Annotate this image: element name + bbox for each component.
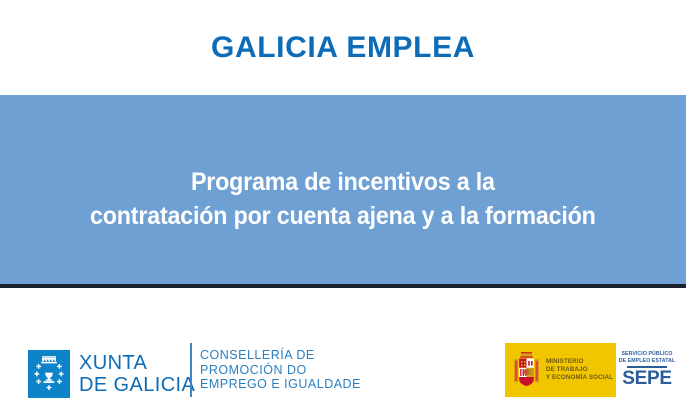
program-title-line-1: Programa de incentivos a la xyxy=(90,165,596,199)
conselleria-line-1: CONSELLERÍA DE xyxy=(200,348,361,363)
program-title-line-2: contratación por cuenta ajena y a la for… xyxy=(90,199,596,233)
ministerio-line-2: DE TRABAJO xyxy=(546,366,613,374)
conselleria-line-2: PROMOCIÓN DO xyxy=(200,363,361,378)
program-banner-text: Programa de incentivos a la contratación… xyxy=(71,165,615,233)
sepe-subtitle-line-1: SERVICIO PÚBLICO xyxy=(619,351,675,357)
logo-divider xyxy=(190,343,192,397)
xunta-wordmark-line-2: DE GALICIA xyxy=(79,374,195,396)
page-title: GALICIA EMPLEA xyxy=(211,31,475,65)
ministerio-de-trabajo-logo: MINISTERIO DE TRABAJO Y ECONOMÍA SOCIAL xyxy=(505,343,616,397)
conselleria-line-3: EMPREGO E IGUALDADE xyxy=(200,377,361,392)
spain-coat-of-arms xyxy=(513,351,540,389)
sepe-subtitle-line-2: DE EMPLEO ESTATAL xyxy=(619,358,675,364)
xunta-de-galicia-logo: XUNTA DE GALICIA xyxy=(28,350,195,398)
galicia-chalice-crown-emblem xyxy=(28,350,70,398)
header-band: GALICIA EMPLEA xyxy=(0,0,686,95)
sepe-acronym: SEPE xyxy=(622,369,672,389)
xunta-wordmark-line-1: XUNTA xyxy=(79,352,195,374)
sepe-subtitle: SERVICIO PÚBLICO DE EMPLEO ESTATAL xyxy=(619,351,675,364)
ministerio-line-3: Y ECONOMÍA SOCIAL xyxy=(546,374,613,382)
conselleria-text: CONSELLERÍA DE PROMOCIÓN DO EMPREGO E IG… xyxy=(200,348,361,392)
ministerio-text: MINISTERIO DE TRABAJO Y ECONOMÍA SOCIAL xyxy=(546,358,613,381)
program-banner: Programa de incentivos a la contratación… xyxy=(0,95,686,284)
sepe-logo: SERVICIO PÚBLICO DE EMPLEO ESTATAL SEPE xyxy=(617,343,677,397)
xunta-wordmark: XUNTA DE GALICIA xyxy=(79,352,195,396)
footer-logos-band: XUNTA DE GALICIA CONSELLERÍA DE PROMOCIÓ… xyxy=(0,288,686,410)
ministerio-line-1: MINISTERIO xyxy=(546,358,613,366)
